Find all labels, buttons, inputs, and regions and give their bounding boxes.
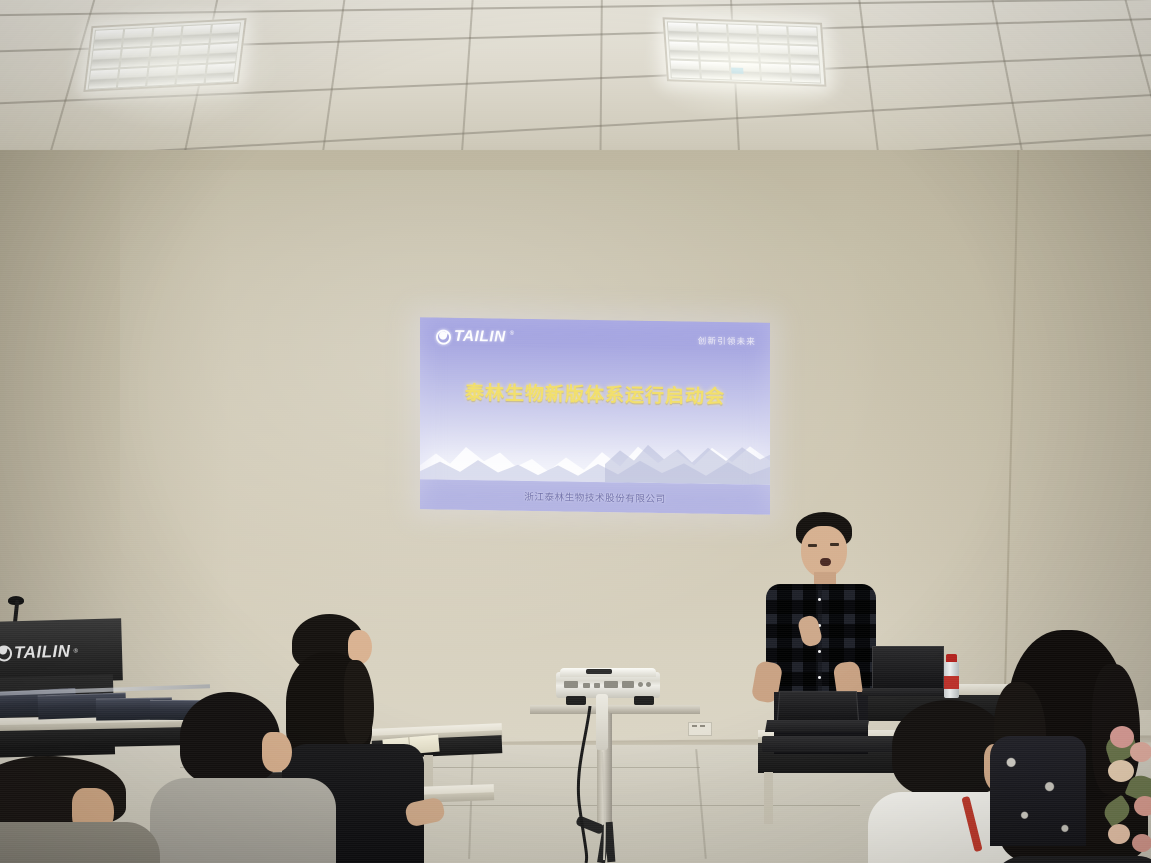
slide-brand-logo: TAILIN ®	[436, 329, 514, 346]
laptop-base-back[interactable]	[861, 688, 949, 696]
flower-petal	[1134, 796, 1151, 816]
ceiling-light-left	[83, 18, 246, 92]
podium-tailin-droplet-icon	[0, 645, 12, 661]
audience-man-right-body	[990, 856, 1151, 863]
laptop-base-front[interactable]	[765, 720, 869, 732]
outlet-slot	[692, 725, 697, 727]
audience-woman-floral-top	[990, 736, 1086, 846]
podium-brand-logo: TAILIN ®	[0, 642, 78, 661]
bottle-cap	[946, 654, 957, 662]
laptop-closed-on-desk[interactable]	[762, 736, 896, 752]
slide-logo-text: TAILIN	[454, 329, 506, 345]
wall-shadow-right	[851, 150, 1151, 710]
flower-petal	[1130, 742, 1151, 762]
laptop-screen-back[interactable]	[872, 646, 944, 692]
slide-mountain-graphic	[420, 413, 770, 484]
laptop-screen-front[interactable]	[777, 691, 859, 724]
podium-logo-text: TAILIN	[14, 643, 71, 660]
audience-man-shirt-left	[0, 822, 160, 863]
presenter-eye	[830, 543, 839, 546]
audience-man-grey-shirt	[150, 778, 336, 863]
projected-slide: TAILIN ® 创新引领未来 泰林生物新版体系运行启动会 浙江泰林生物技术股份…	[420, 317, 770, 514]
slide-title: 泰林生物新版体系运行启动会	[420, 377, 770, 409]
flower-bouquet	[1104, 726, 1151, 856]
presenter-eye	[808, 544, 817, 547]
flower-petal	[1108, 824, 1130, 844]
projector-cables	[540, 700, 650, 863]
slide-company-name: 浙江泰林生物技术股份有限公司	[524, 489, 665, 505]
bottle-label	[944, 676, 959, 689]
registered-trademark-icon: ®	[510, 331, 514, 337]
flower-petal	[1108, 760, 1134, 782]
presenter-face	[801, 526, 847, 578]
presenter-desk-leg	[764, 772, 773, 824]
outlet-slot	[700, 725, 705, 727]
podium-registered-trademark-icon: ®	[73, 648, 78, 654]
ceiling-light-right	[663, 17, 827, 87]
presenter-mouth	[820, 558, 831, 566]
photo-scene: TAILIN ® 创新引领未来 泰林生物新版体系运行启动会 浙江泰林生物技术股份…	[0, 0, 1151, 863]
flower-petal	[1132, 834, 1151, 852]
flower-petal	[1110, 726, 1134, 748]
tailin-droplet-icon	[436, 330, 451, 345]
slide-tagline: 创新引领未来	[698, 335, 756, 348]
slide-footer-band: 浙江泰林生物技术股份有限公司	[420, 479, 770, 514]
projector-handle	[586, 669, 612, 674]
